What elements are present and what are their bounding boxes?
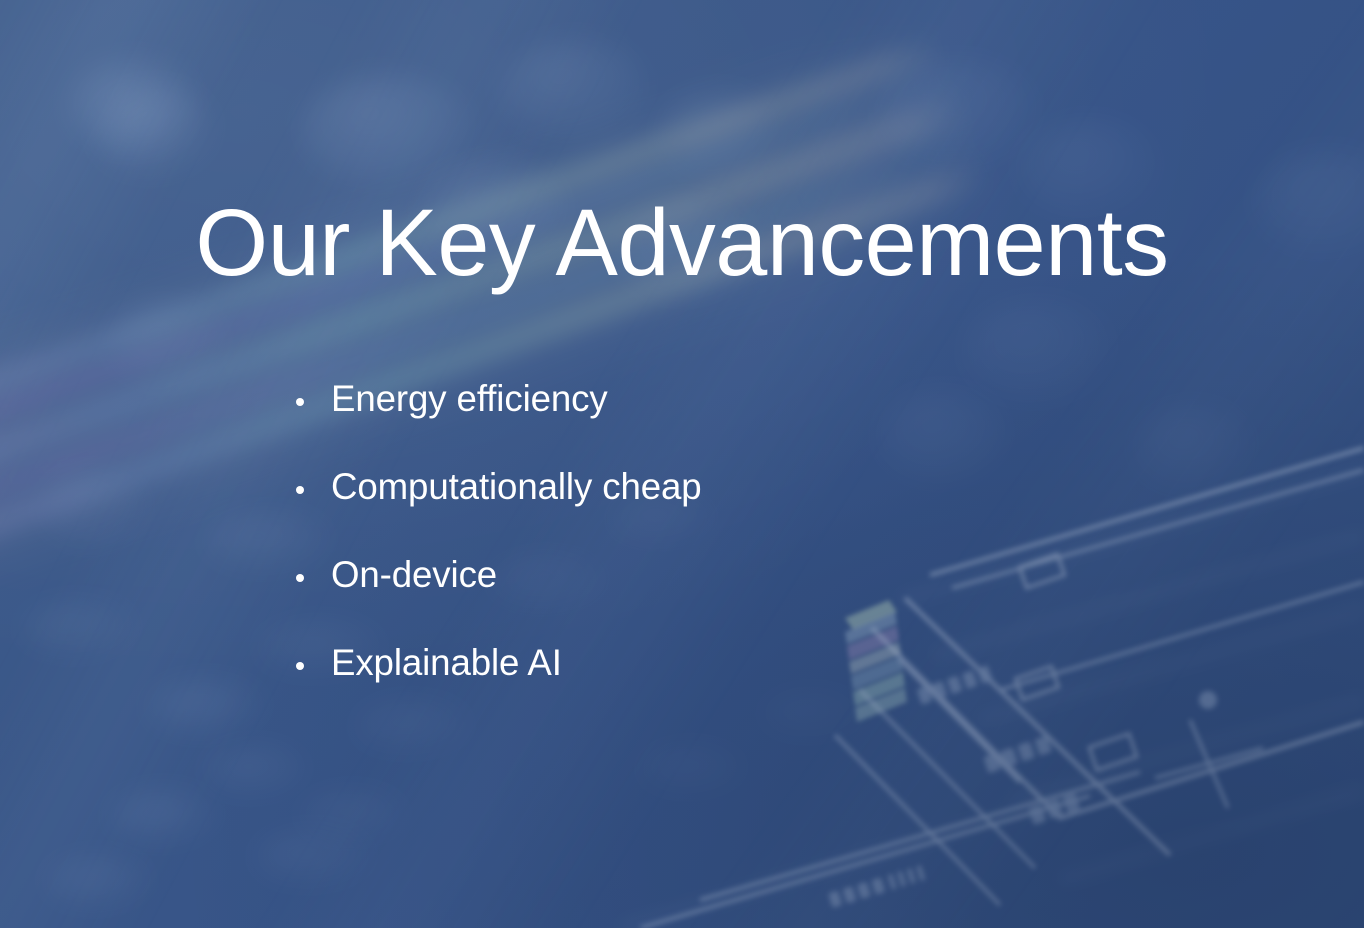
list-item: Explainable AI	[296, 644, 1196, 732]
list-item: Computationally cheap	[296, 468, 1196, 556]
slide-content: Our Key Advancements Energy efficiencyCo…	[0, 0, 1364, 928]
bullet-dot-icon	[296, 574, 304, 582]
bullet-label: Energy efficiency	[331, 380, 608, 417]
bullet-list: Energy efficiencyComputationally cheapOn…	[296, 380, 1196, 732]
bullet-dot-icon	[296, 662, 304, 670]
bullet-label: Explainable AI	[331, 644, 562, 681]
bullet-dot-icon	[296, 486, 304, 494]
list-item: On-device	[296, 556, 1196, 644]
list-item: Energy efficiency	[296, 380, 1196, 468]
bullet-dot-icon	[296, 398, 304, 406]
bullet-label: On-device	[331, 556, 497, 593]
bullet-label: Computationally cheap	[331, 468, 702, 505]
slide: Our Key Advancements Energy efficiencyCo…	[0, 0, 1364, 928]
slide-title: Our Key Advancements	[10, 196, 1354, 291]
